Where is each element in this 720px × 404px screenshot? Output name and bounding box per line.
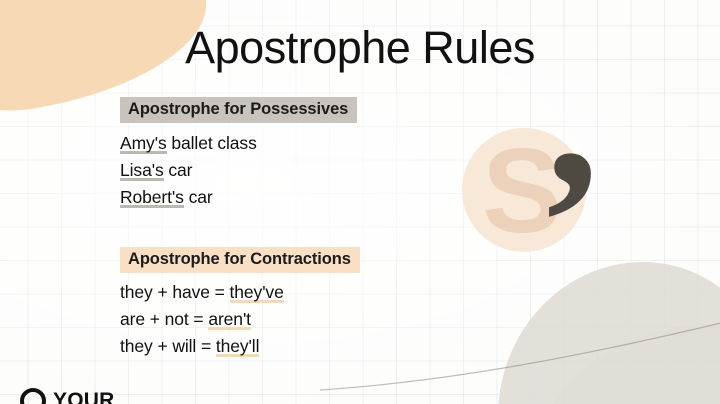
equation-lead: they + have =: [120, 282, 230, 302]
section-possessives: Apostrophe for Possessives Amy's ballet …: [120, 97, 357, 211]
list-item: are + not = aren't: [120, 306, 360, 333]
brand-logo: YOUR: [20, 388, 114, 404]
equation-lead: are + not =: [120, 309, 208, 329]
term-remainder: ballet class: [167, 133, 257, 153]
list-item: Amy's ballet class: [120, 130, 357, 157]
underlined-term: Robert's: [120, 187, 184, 208]
example-list-possessives: Amy's ballet class Lisa's car Robert's c…: [120, 130, 357, 211]
ring-icon: [20, 388, 46, 404]
brand-logo-text: YOUR: [53, 390, 114, 404]
section-contractions: Apostrophe for Contractions they + have …: [120, 247, 360, 360]
equation-lead: they + will =: [120, 336, 216, 356]
section-heading-possessives: Apostrophe for Possessives: [120, 97, 357, 123]
list-item: they + have = they've: [120, 279, 360, 306]
underlined-term: they've: [230, 282, 284, 303]
underlined-term: Lisa's: [120, 160, 164, 181]
example-list-contractions: they + have = they've are + not = aren't…: [120, 279, 360, 360]
slide-canvas: S ’ Apostrophe Rules Apostrophe for Poss…: [0, 0, 720, 404]
section-heading-contractions: Apostrophe for Contractions: [120, 247, 360, 273]
list-item: they + will = they'll: [120, 333, 360, 360]
apostrophe-glyph-icon: ’: [536, 118, 606, 238]
term-remainder: car: [184, 187, 213, 207]
term-remainder: car: [164, 160, 193, 180]
underlined-term: Amy's: [120, 133, 167, 154]
underlined-term: they'll: [216, 336, 260, 357]
page-title: Apostrophe Rules: [0, 22, 720, 74]
underlined-term: aren't: [208, 309, 251, 330]
list-item: Robert's car: [120, 184, 357, 211]
list-item: Lisa's car: [120, 157, 357, 184]
